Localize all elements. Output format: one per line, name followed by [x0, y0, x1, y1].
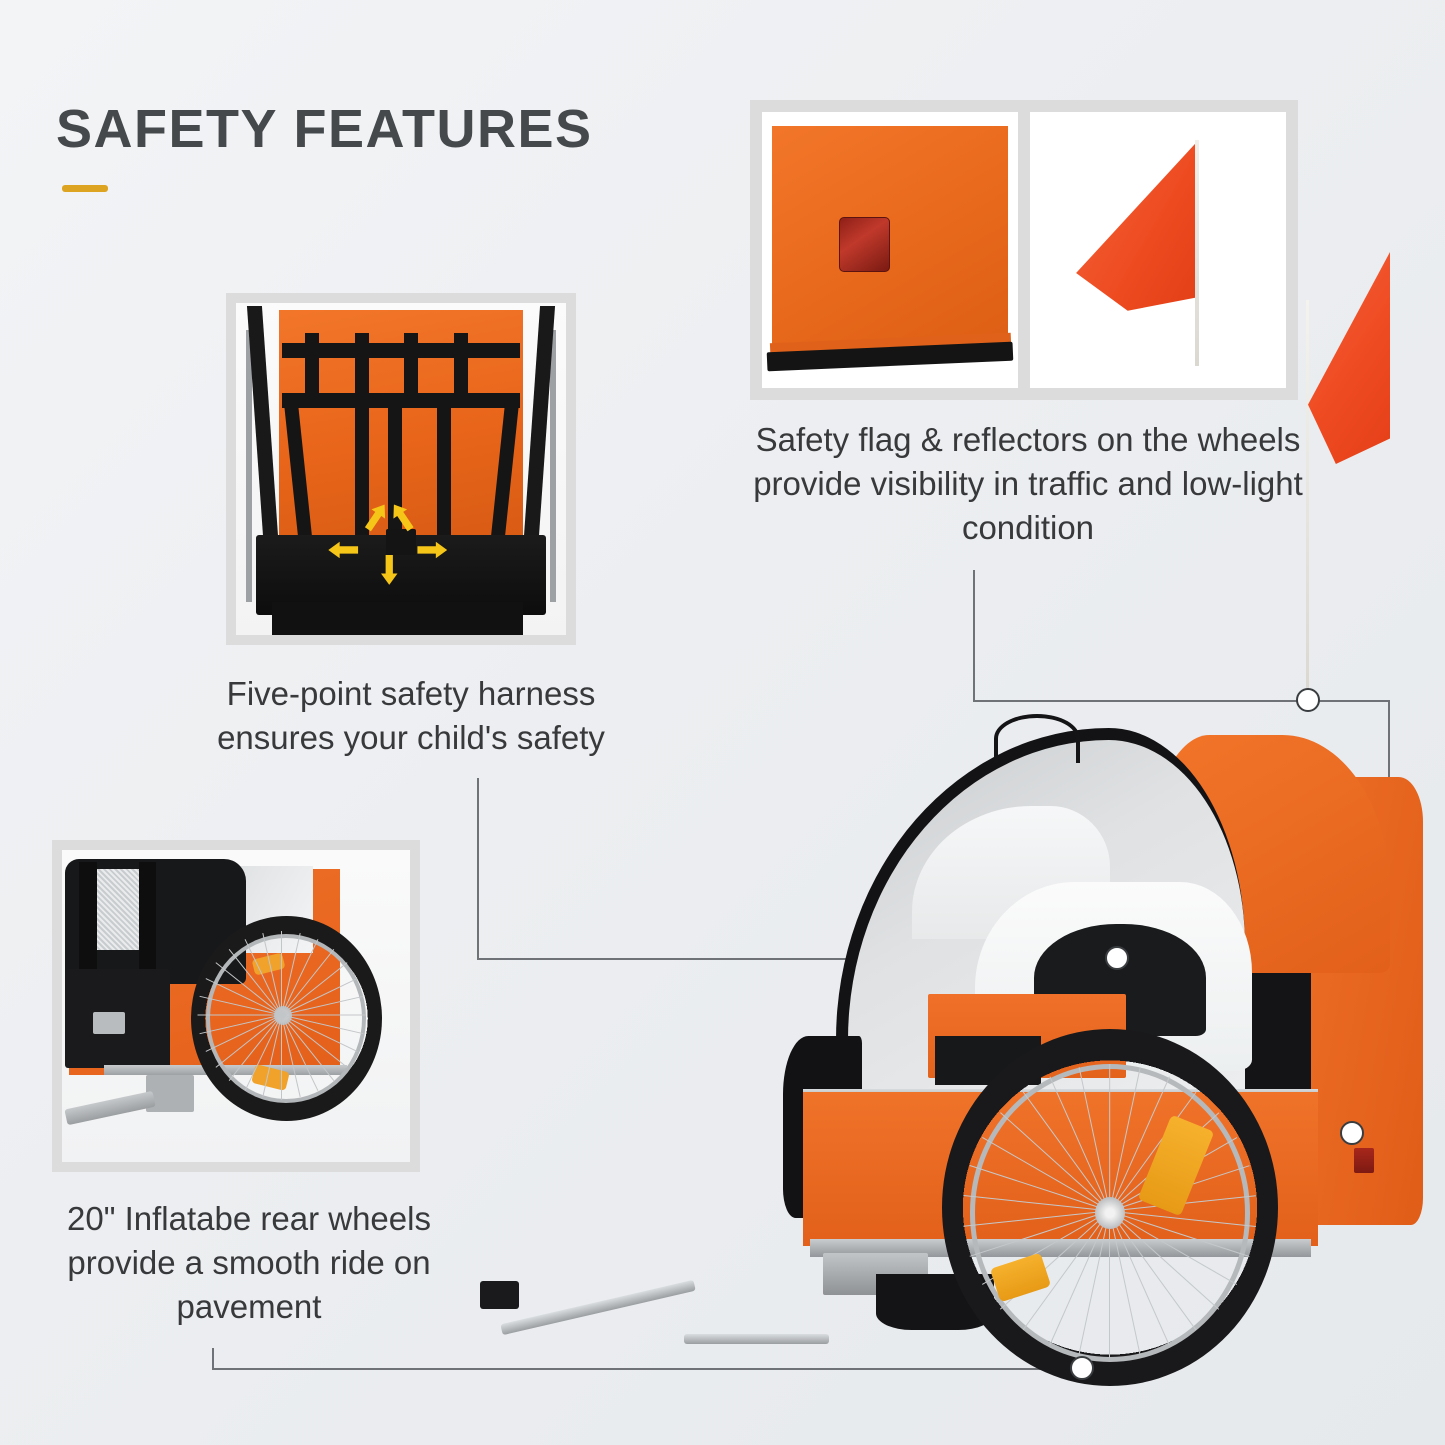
webbing-vertical: [404, 333, 418, 406]
rear-red-reflector: [1354, 1148, 1374, 1173]
photo-reflector-on-fabric: [762, 112, 1018, 388]
webbing-vertical: [305, 333, 319, 406]
callout-dot-reflector[interactable]: [1340, 1121, 1364, 1145]
red-reflector-icon: [839, 217, 890, 272]
product-flag-pole: [1306, 300, 1309, 710]
main-wheel-hub: [1095, 1197, 1125, 1229]
photo-safety-flag: [1030, 112, 1286, 388]
orange-fabric: [772, 126, 1008, 347]
flag-pole: [1195, 140, 1199, 366]
panel-flag-reflector-inner: [762, 112, 1286, 388]
tow-bar-front: [501, 1280, 696, 1335]
lower-skirt: [272, 602, 523, 635]
harness-buckle: [386, 529, 416, 556]
wheel-spoke: [281, 1015, 282, 1099]
leader-line-flag-vertical: [973, 570, 975, 702]
callout-dot-flag[interactable]: [1296, 688, 1320, 712]
carry-handle: [994, 714, 1080, 763]
leader-line-harness-vertical: [477, 778, 479, 960]
callout-dot-wheel[interactable]: [1070, 1356, 1094, 1380]
strap-right: [139, 862, 156, 981]
title-accent-rule: [62, 185, 108, 192]
buckle-clip: [93, 1012, 124, 1034]
callout-dot-harness[interactable]: [1105, 946, 1129, 970]
panel-flag-and-reflector: [750, 100, 1298, 400]
coupler-hitch: [480, 1281, 520, 1309]
caption-rear-wheels: 20" Inflatabe rear wheels provide a smoo…: [34, 1197, 464, 1329]
shoulder-strap-left: [355, 393, 369, 539]
wheel-spoke: [1109, 1211, 1110, 1358]
panel-rear-wheel: [52, 840, 420, 1172]
photo-rear-wheel: [62, 850, 410, 1162]
lap-strap: [437, 393, 451, 549]
webbing-vertical: [454, 333, 468, 406]
photo-harness: [236, 303, 566, 635]
frame-post-right: [550, 330, 557, 602]
page-title: SAFETY FEATURES: [56, 98, 593, 160]
safety-flag-icon: [1076, 140, 1199, 311]
leader-line-wheel-vertical: [212, 1348, 214, 1370]
infographic-canvas: SAFETY FEATURES Safety flag & reflectors…: [0, 0, 1445, 1445]
caption-harness: Five-point safety harness ensures your c…: [176, 672, 646, 760]
tow-bar-rear: [684, 1334, 829, 1345]
panel-five-point-harness: [226, 293, 576, 645]
product-safety-flag: [1308, 252, 1390, 464]
mesh-vent: [93, 869, 138, 950]
caption-safety-flag: Safety flag & reflectors on the wheels p…: [752, 418, 1304, 550]
product-bike-trailer: [770, 700, 1430, 1400]
